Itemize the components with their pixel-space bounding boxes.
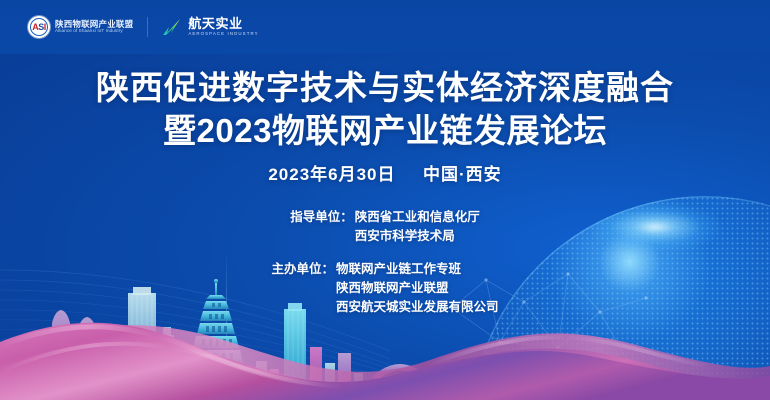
event-date: 2023年6月30日 (268, 165, 395, 184)
host-unit-1: 物联网产业链工作专班 (336, 260, 499, 279)
headline-line-1: 陕西促进数字技术与实体经济深度融合 (0, 66, 770, 109)
guidance-unit-1: 陕西省工业和信息化厅 (355, 208, 480, 227)
alliance-logo: ASI 陕西物联网产业联盟 Alliance of Shaanxi IoT In… (28, 16, 133, 38)
host-label: 主办单位： (271, 260, 334, 279)
forum-poster: ASI 陕西物联网产业联盟 Alliance of Shaanxi IoT In… (0, 0, 770, 400)
guidance-label: 指导单位： (290, 208, 353, 227)
credits-block: 指导单位： 陕西省工业和信息化厅 西安市科学技术局 主办单位： 物联网产业链工作… (0, 208, 770, 317)
aerospace-logo: 航天实业 AEROSPACE INDUSTRY (162, 17, 258, 36)
host-unit-3: 西安航天城实业发展有限公司 (336, 298, 499, 317)
asi-letter-i: I (44, 22, 46, 32)
host-unit-2: 陕西物联网产业联盟 (336, 279, 499, 298)
headline-line-2: 暨2023物联网产业链发展论坛 (0, 109, 770, 152)
alliance-logo-text: 陕西物联网产业联盟 Alliance of Shaanxi IoT Indust… (55, 20, 133, 34)
aerospace-name-en: AEROSPACE INDUSTRY (188, 32, 258, 36)
aerospace-name-cn: 航天实业 (188, 17, 258, 30)
event-dateline: 2023年6月30日 中国·西安 (0, 160, 770, 185)
poster-headline: 陕西促进数字技术与实体经济深度融合 暨2023物联网产业链发展论坛 (0, 66, 770, 152)
guidance-values: 陕西省工业和信息化厅 西安市科学技术局 (355, 208, 480, 246)
aerospace-swoosh-icon (162, 18, 182, 36)
host-values: 物联网产业链工作专班 陕西物联网产业联盟 西安航天城实业发展有限公司 (336, 260, 499, 317)
alliance-name-en: Alliance of Shaanxi IoT Industry (55, 29, 133, 34)
event-location: 中国·西安 (423, 165, 502, 184)
asi-badge-letters: ASI (32, 23, 46, 32)
alliance-name-cn: 陕西物联网产业联盟 (55, 20, 133, 29)
logo-bar: ASI 陕西物联网产业联盟 Alliance of Shaanxi IoT In… (28, 12, 259, 42)
asi-badge-icon: ASI (28, 16, 50, 38)
aerospace-logo-text: 航天实业 AEROSPACE INDUSTRY (188, 17, 258, 36)
credit-row-host: 主办单位： 物联网产业链工作专班 陕西物联网产业联盟 西安航天城实业发展有限公司 (271, 260, 498, 317)
logo-divider (147, 17, 148, 37)
guidance-unit-2: 西安市科学技术局 (355, 227, 480, 246)
credit-row-guidance: 指导单位： 陕西省工业和信息化厅 西安市科学技术局 (290, 208, 480, 246)
